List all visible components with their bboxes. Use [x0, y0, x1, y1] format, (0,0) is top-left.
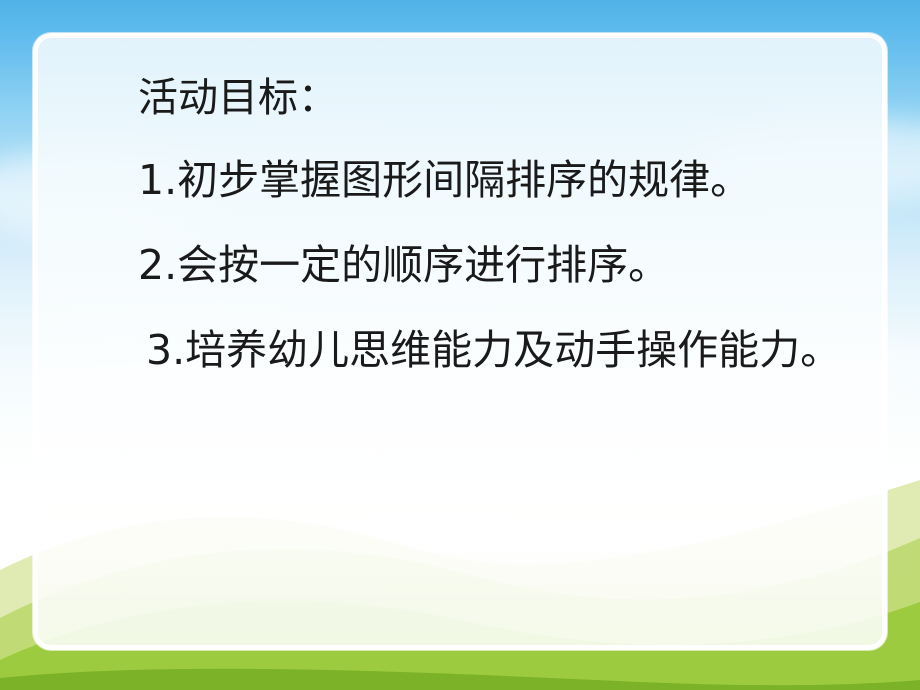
objective-item-2: 2.会按一定的顺序进行排序。	[138, 245, 878, 286]
objective-item-3: 3.培养幼儿思维能力及动手操作能力。	[146, 330, 878, 371]
objectives-text-block: 活动目标： 1.初步掌握图形间隔排序的规律。 2.会按一定的顺序进行排序。 3.…	[138, 78, 878, 371]
slide-title: 活动目标：	[138, 78, 878, 118]
objective-item-1: 1.初步掌握图形间隔排序的规律。	[138, 160, 878, 201]
presentation-slide: 活动目标： 1.初步掌握图形间隔排序的规律。 2.会按一定的顺序进行排序。 3.…	[0, 0, 920, 690]
content-card: 活动目标： 1.初步掌握图形间隔排序的规律。 2.会按一定的顺序进行排序。 3.…	[33, 33, 887, 650]
